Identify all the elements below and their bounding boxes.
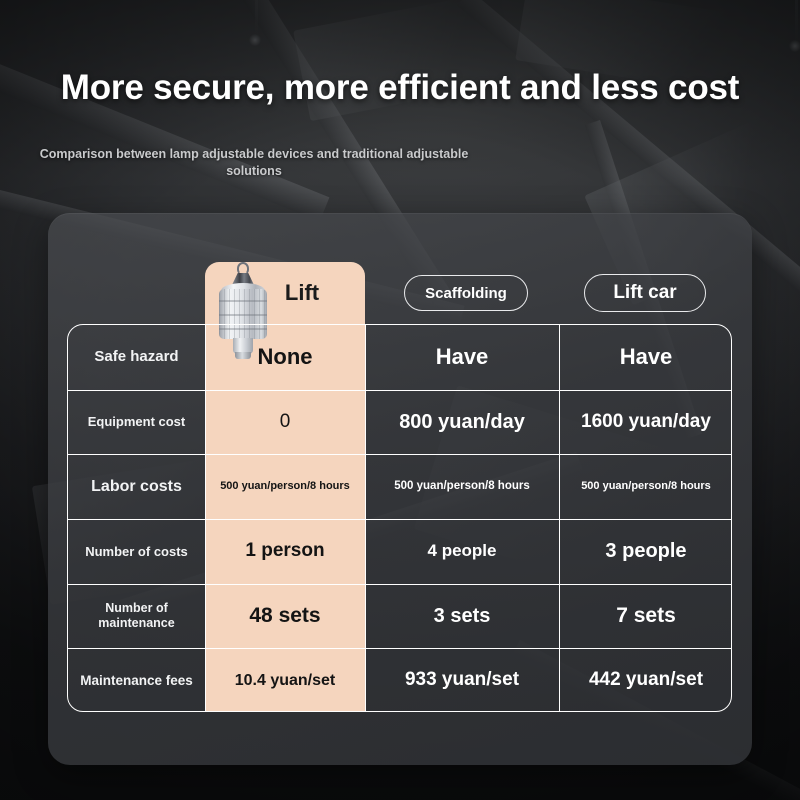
column-header-lift-car: Lift car bbox=[584, 274, 706, 312]
table-cell-scaffolding: 3 sets bbox=[365, 584, 559, 649]
table-cell-lift-car: 442 yuan/set bbox=[559, 648, 733, 713]
table-cell-lift: 48 sets bbox=[205, 584, 365, 649]
comparison-table: Safe hazard None Have Have Equipment cos… bbox=[67, 324, 732, 712]
table-cell-lift: 0 bbox=[205, 390, 365, 455]
table-cell-lift: None bbox=[205, 325, 365, 390]
table-cell-lift: 10.4 yuan/set bbox=[205, 648, 365, 713]
poster-canvas: More secure, more efficient and less cos… bbox=[0, 0, 800, 800]
column-header-lift: Lift bbox=[243, 272, 361, 314]
table-cell-lift: 1 person bbox=[205, 519, 365, 584]
table-cell-lift-car: Have bbox=[559, 325, 733, 390]
table-row-label: Labor costs bbox=[68, 454, 205, 519]
page-subtitle: Comparison between lamp adjustable devic… bbox=[38, 146, 470, 180]
table-cell-lift-car: 7 sets bbox=[559, 584, 733, 649]
lamp-fin-ring bbox=[219, 314, 267, 316]
table-cell-scaffolding: 800 yuan/day bbox=[365, 390, 559, 455]
table-row-label: Equipment cost bbox=[68, 390, 205, 455]
table-row-label: Number of maintenance bbox=[68, 584, 205, 649]
table-cell-lift-car: 500 yuan/person/8 hours bbox=[559, 454, 733, 519]
column-header-scaffolding: Scaffolding bbox=[404, 275, 528, 311]
table-cell-lift: 500 yuan/person/8 hours bbox=[205, 454, 365, 519]
table-cell-scaffolding: 4 people bbox=[365, 519, 559, 584]
table-cell-scaffolding: Have bbox=[365, 325, 559, 390]
table-row-label: Safe hazard bbox=[68, 325, 205, 390]
table-cell-scaffolding: 933 yuan/set bbox=[365, 648, 559, 713]
table-cell-lift-car: 3 people bbox=[559, 519, 733, 584]
table-cell-scaffolding: 500 yuan/person/8 hours bbox=[365, 454, 559, 519]
table-row-label: Maintenance fees bbox=[68, 648, 205, 713]
table-cell-lift-car: 1600 yuan/day bbox=[559, 390, 733, 455]
page-title: More secure, more efficient and less cos… bbox=[0, 68, 800, 108]
table-row-label: Number of costs bbox=[68, 519, 205, 584]
